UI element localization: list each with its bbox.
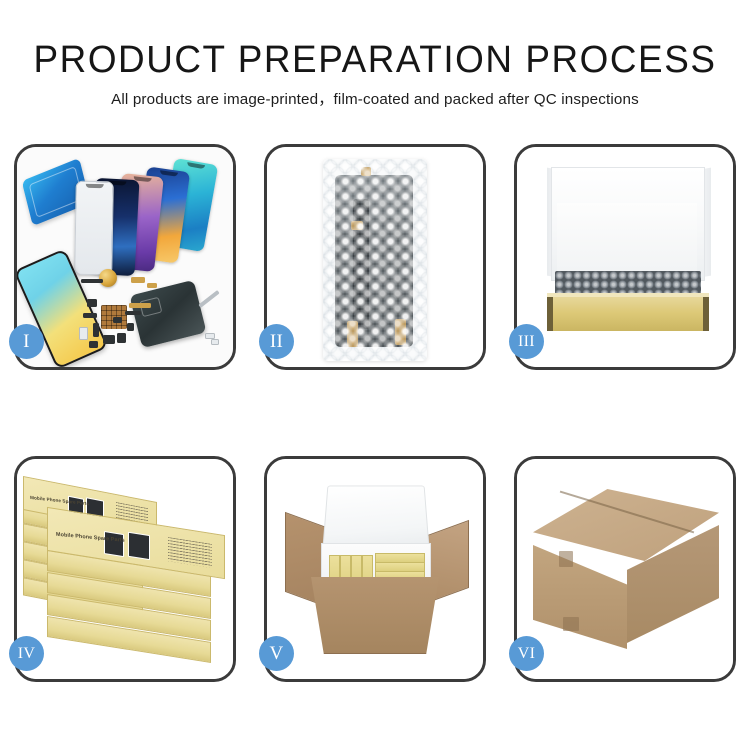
notch-icon <box>159 170 177 176</box>
spare-part <box>147 283 157 288</box>
step-badge-1: I <box>9 324 44 359</box>
step-badge-6: VI <box>509 636 544 671</box>
kraft-box-front <box>547 297 709 331</box>
gold-coil-part <box>99 269 117 287</box>
box-stack: Mobile Phone Spare Parts Mobile Phone Sp… <box>17 459 233 679</box>
spare-part <box>93 323 99 337</box>
spare-part <box>113 317 122 323</box>
panel-bubble-wrap[interactable]: II <box>264 144 486 370</box>
panel-stacked-boxes[interactable]: Mobile Phone Spare Parts Mobile Phone Sp… <box>14 456 236 682</box>
spare-part <box>103 335 115 344</box>
spare-part <box>87 299 97 307</box>
panel-5-image <box>267 459 483 679</box>
bubble-texture <box>323 159 427 361</box>
step-badge-5: V <box>259 636 294 671</box>
spare-part <box>127 323 134 331</box>
notch-icon <box>86 184 104 188</box>
carton-tape-patch <box>563 617 579 631</box>
step-badge-2: II <box>259 324 294 359</box>
panel-6-image <box>517 459 733 679</box>
spare-part <box>79 327 88 340</box>
box-window <box>104 531 124 557</box>
notch-icon <box>187 162 205 169</box>
spare-part <box>131 277 145 283</box>
panel-2-image <box>267 147 483 367</box>
page-title: PRODUCT PREPARATION PROCESS <box>11 0 739 82</box>
panel-open-inner-box[interactable]: III <box>514 144 736 370</box>
carton-tape-patch <box>559 551 573 567</box>
foam-box-lid <box>322 486 429 550</box>
bubble-wrap-bag <box>323 159 427 361</box>
spare-part <box>129 303 151 308</box>
panel-sealed-carton[interactable]: VI <box>514 456 736 682</box>
spare-part <box>117 333 126 343</box>
carton-left-face <box>533 545 627 649</box>
panel-carton-packing[interactable]: V <box>264 456 486 682</box>
spare-part <box>125 311 141 315</box>
box-window <box>128 532 150 560</box>
box-brand-label: Mobile Phone Spare Parts <box>30 495 89 506</box>
panel-3-image <box>517 147 733 367</box>
spare-part <box>83 313 97 318</box>
box-print-lines <box>168 537 212 568</box>
phone-screen-1 <box>74 181 114 276</box>
panel-1-image <box>17 147 233 367</box>
foam-sheet <box>557 203 697 271</box>
process-panel-grid: I II III <box>0 140 750 685</box>
step-badge-4: IV <box>9 636 44 671</box>
step-badge-3: III <box>509 324 544 359</box>
panel-4-image: Mobile Phone Spare Parts Mobile Phone Sp… <box>17 459 233 679</box>
spare-part <box>211 339 219 345</box>
carton-body <box>311 577 439 654</box>
spare-part <box>81 279 103 283</box>
page-header: PRODUCT PREPARATION PROCESS All products… <box>0 0 750 110</box>
page-subtitle: All products are image-printed，film-coat… <box>0 82 750 110</box>
spare-part <box>89 341 98 348</box>
panel-product-parts[interactable]: I <box>14 144 236 370</box>
